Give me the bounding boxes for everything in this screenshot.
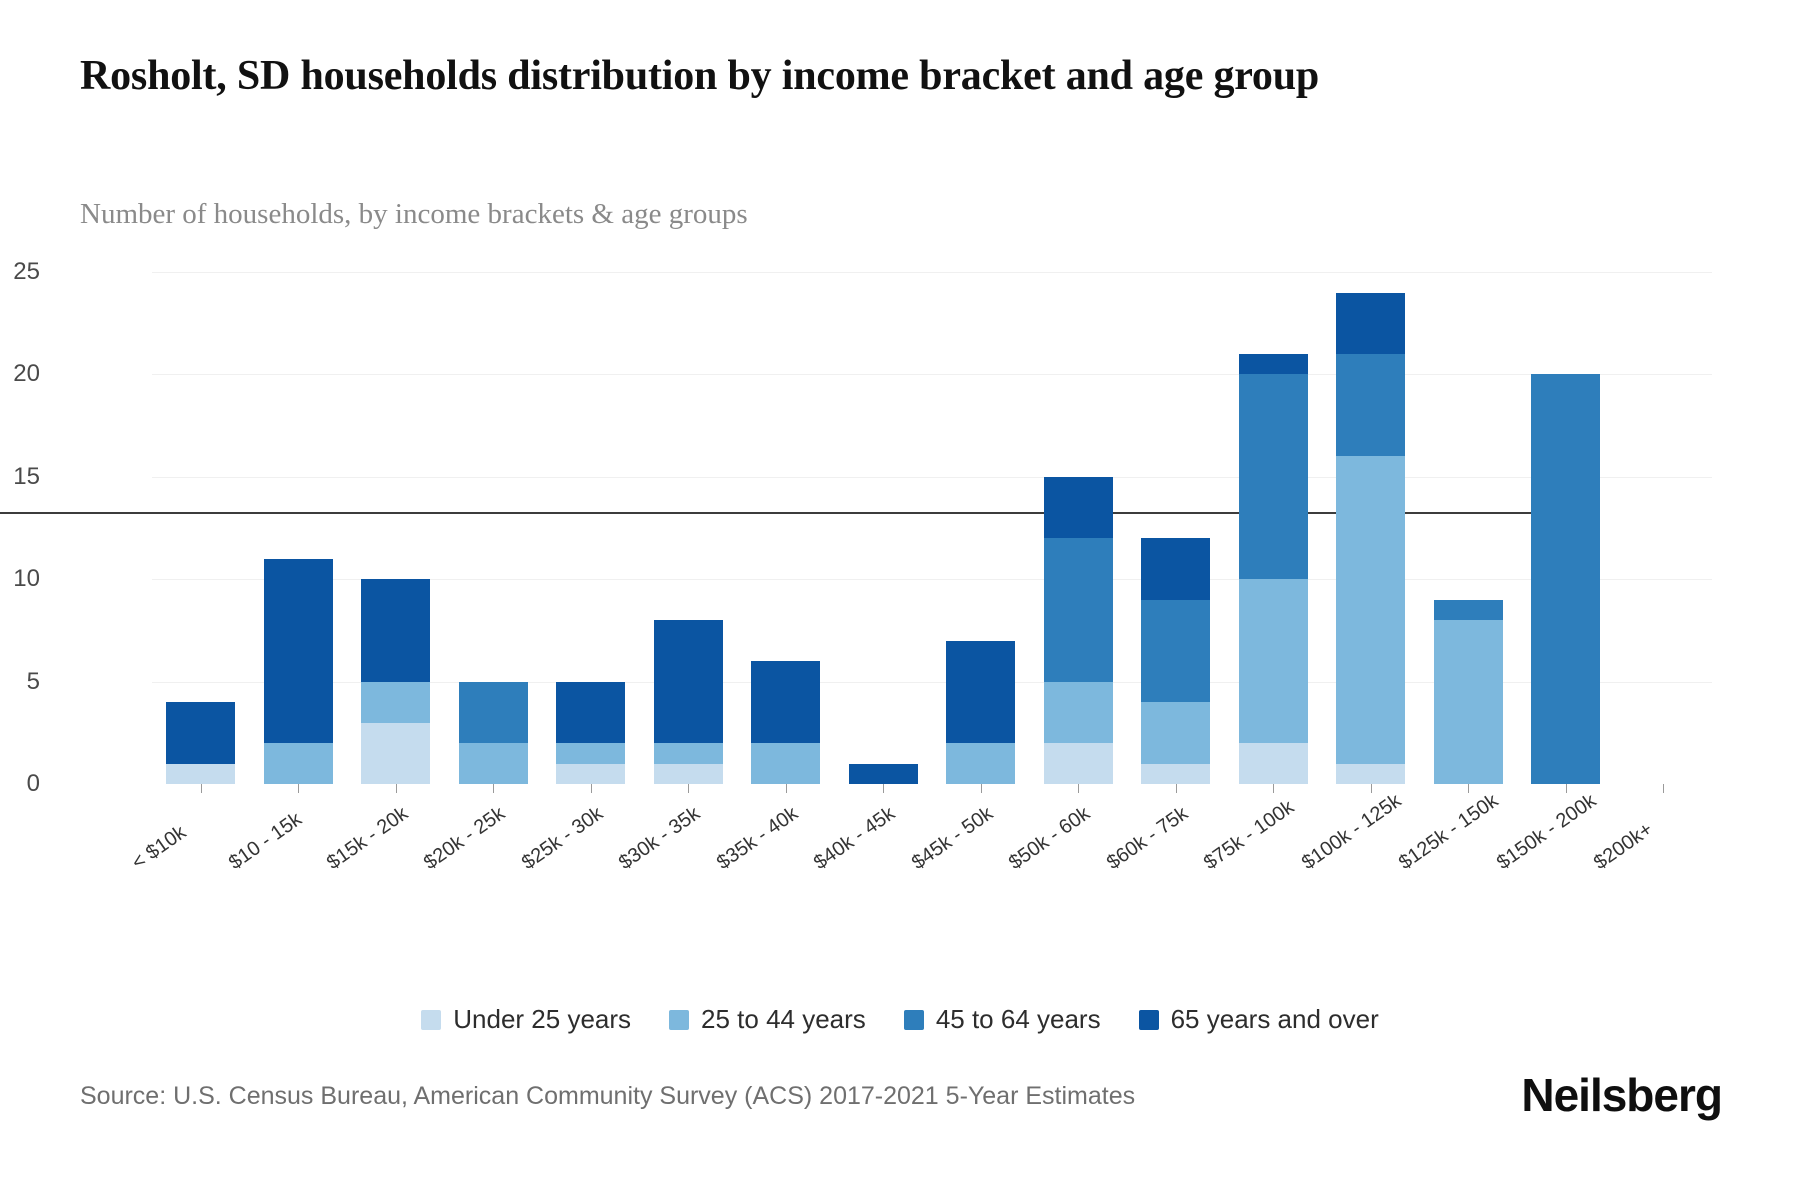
bar-segment[interactable]	[1336, 354, 1405, 456]
bar-column[interactable]	[1615, 272, 1713, 784]
bar-segment[interactable]	[264, 559, 333, 743]
x-axis-tick	[1030, 784, 1128, 794]
x-axis-tick	[347, 784, 445, 794]
legend-item[interactable]: 65 years and over	[1139, 1004, 1379, 1035]
bar-segment[interactable]	[1239, 374, 1308, 579]
bar-segment[interactable]	[1044, 743, 1113, 784]
x-axis-tick	[1615, 784, 1713, 794]
bar-column[interactable]	[1322, 272, 1420, 784]
bar-column[interactable]	[1517, 272, 1615, 784]
brand-logo: Neilsberg	[1521, 1068, 1722, 1122]
bar-column[interactable]	[1030, 272, 1128, 784]
stacked-bar[interactable]	[654, 620, 723, 784]
y-axis-tick-label: 25	[0, 258, 40, 286]
bar-segment[interactable]	[1239, 354, 1308, 374]
x-axis-tick-label: < $10k	[128, 821, 191, 875]
x-axis-tick	[152, 784, 250, 794]
legend-item[interactable]: 25 to 44 years	[669, 1004, 866, 1035]
bar-segment[interactable]	[1434, 600, 1503, 620]
bar-segment[interactable]	[166, 702, 235, 763]
x-axis-tick	[835, 784, 933, 794]
legend-swatch-icon	[421, 1010, 441, 1030]
stacked-bar[interactable]	[1531, 374, 1600, 784]
bar-segment[interactable]	[556, 743, 625, 763]
legend-label: 65 years and over	[1171, 1004, 1379, 1035]
bar-segment[interactable]	[556, 682, 625, 743]
stacked-bar[interactable]	[1239, 354, 1308, 784]
bar-column[interactable]	[835, 272, 933, 784]
stacked-bar[interactable]	[751, 661, 820, 784]
x-axis-labels: < $10k$10 - 15k$15k - 20k$20k - 25k$25k …	[152, 794, 1712, 904]
legend-label: 25 to 44 years	[701, 1004, 866, 1035]
legend-swatch-icon	[1139, 1010, 1159, 1030]
legend-label: 45 to 64 years	[936, 1004, 1101, 1035]
bar-segment[interactable]	[1434, 620, 1503, 784]
stacked-bar[interactable]	[1044, 477, 1113, 784]
x-axis-tick	[737, 784, 835, 794]
y-axis-tick-label: 10	[0, 565, 40, 593]
y-axis-tick-label: 15	[0, 463, 40, 491]
y-axis-tick-label: 5	[0, 668, 40, 696]
bar-segment[interactable]	[361, 723, 430, 784]
stacked-bar[interactable]	[946, 641, 1015, 784]
bar-column[interactable]	[640, 272, 738, 784]
stacked-bar[interactable]	[556, 682, 625, 784]
bar-segment[interactable]	[459, 743, 528, 784]
x-axis-tick	[542, 784, 640, 794]
bar-segment[interactable]	[654, 764, 723, 784]
bar-segment[interactable]	[654, 620, 723, 743]
stacked-bar[interactable]	[459, 682, 528, 784]
bar-segment[interactable]	[751, 661, 820, 743]
bar-column[interactable]	[152, 272, 250, 784]
x-axis-tick	[1225, 784, 1323, 794]
x-axis-tick	[932, 784, 1030, 794]
bar-segment[interactable]	[264, 743, 333, 784]
bar-segment[interactable]	[361, 579, 430, 681]
bar-column[interactable]	[737, 272, 835, 784]
stacked-bar[interactable]	[1434, 600, 1503, 784]
legend-swatch-icon	[669, 1010, 689, 1030]
bar-segment[interactable]	[1044, 538, 1113, 681]
x-axis-tick	[1127, 784, 1225, 794]
bar-segment[interactable]	[1336, 293, 1405, 354]
bar-segment[interactable]	[556, 764, 625, 784]
bar-column[interactable]	[1127, 272, 1225, 784]
legend-item[interactable]: 45 to 64 years	[904, 1004, 1101, 1035]
bar-column[interactable]	[445, 272, 543, 784]
legend-item[interactable]: Under 25 years	[421, 1004, 631, 1035]
bar-segment[interactable]	[751, 743, 820, 784]
stacked-bar[interactable]	[1141, 538, 1210, 784]
y-axis-tick-label: 20	[0, 360, 40, 388]
stacked-bar[interactable]	[1336, 293, 1405, 784]
bar-segment[interactable]	[459, 682, 528, 743]
x-axis-tick	[1517, 784, 1615, 794]
stacked-bar[interactable]	[849, 764, 918, 784]
stacked-bar[interactable]	[166, 702, 235, 784]
x-axis-ticks	[152, 784, 1712, 794]
x-axis-tick	[250, 784, 348, 794]
bar-segment[interactable]	[1141, 764, 1210, 784]
x-axis-tick	[640, 784, 738, 794]
source-note: Source: U.S. Census Bureau, American Com…	[80, 1082, 1135, 1111]
bar-segment[interactable]	[1239, 743, 1308, 784]
bar-segment[interactable]	[361, 682, 430, 723]
bar-column[interactable]	[1420, 272, 1518, 784]
bar-segment[interactable]	[946, 743, 1015, 784]
bar-segment[interactable]	[1531, 374, 1600, 784]
bar-segment[interactable]	[1141, 702, 1210, 763]
bar-column[interactable]	[932, 272, 1030, 784]
bar-segment[interactable]	[1141, 538, 1210, 599]
x-axis-tick	[1420, 784, 1518, 794]
bar-segment[interactable]	[166, 764, 235, 784]
bar-segment[interactable]	[1336, 764, 1405, 784]
bar-segment[interactable]	[654, 743, 723, 763]
bar-segment[interactable]	[1336, 456, 1405, 763]
bar-segment[interactable]	[946, 641, 1015, 743]
bar-segment[interactable]	[1239, 579, 1308, 743]
bar-column[interactable]	[1225, 272, 1323, 784]
stacked-bar[interactable]	[264, 559, 333, 784]
stacked-bar[interactable]	[361, 579, 430, 784]
chart-page: Rosholt, SD households distribution by i…	[0, 0, 1800, 1200]
x-axis-tick	[1322, 784, 1420, 794]
bar-segment[interactable]	[1044, 477, 1113, 538]
bar-segment[interactable]	[849, 764, 918, 784]
legend-label: Under 25 years	[453, 1004, 631, 1035]
legend-swatch-icon	[904, 1010, 924, 1030]
chart-legend: Under 25 years25 to 44 years45 to 64 yea…	[0, 1004, 1800, 1035]
bar-series-container	[152, 272, 1712, 784]
bar-segment[interactable]	[1044, 682, 1113, 743]
y-axis-tick-label: 0	[0, 770, 40, 798]
x-axis-label-cell: $200k+	[1615, 794, 1713, 904]
bar-column[interactable]	[542, 272, 640, 784]
x-axis-tick	[445, 784, 543, 794]
bar-segment[interactable]	[1141, 600, 1210, 702]
bar-column[interactable]	[250, 272, 348, 784]
bar-column[interactable]	[347, 272, 445, 784]
